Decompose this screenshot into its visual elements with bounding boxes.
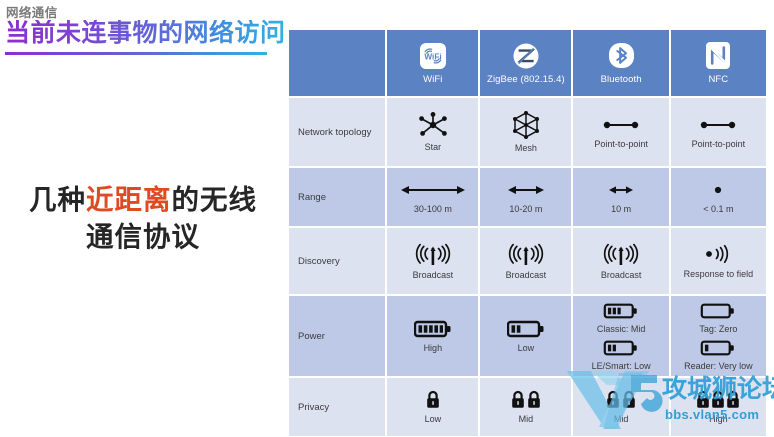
- zigbee-icon: [482, 41, 569, 71]
- broadcast-antenna-icon: [505, 241, 547, 267]
- cell-power-zigbee: Low: [480, 296, 571, 376]
- cell-caption: Response to field: [684, 269, 754, 280]
- dot-icon: [711, 179, 725, 201]
- cell-privacy-wifi: Low: [387, 378, 478, 436]
- cell-power-wifi: High: [387, 296, 478, 376]
- table-row: Discovery: [289, 228, 766, 294]
- table-body: Network topology: [289, 98, 766, 436]
- battery-full-icon: [414, 318, 452, 340]
- row-label-network-topology: Network topology: [289, 98, 385, 166]
- double-arrow-long-icon: [401, 179, 465, 201]
- cell-caption: Low: [425, 414, 442, 425]
- header-label-bluetooth: Bluetooth: [575, 74, 666, 85]
- battery-low-icon: [603, 337, 639, 359]
- table-row: Network topology: [289, 98, 766, 166]
- subtitle-line-2: 通信协议: [0, 219, 286, 256]
- lock-two-icon: [606, 389, 636, 411]
- star-topology-icon: [417, 111, 449, 139]
- cell-range-wifi: 30-100 m: [387, 168, 478, 226]
- battery-mid-icon: [603, 300, 639, 322]
- cell-discovery-wifi: Broadcast: [387, 228, 478, 294]
- point-to-point-icon: [600, 114, 642, 136]
- cell-topology-zigbee: Mesh: [480, 98, 571, 166]
- cell-discovery-bluetooth: Broadcast: [573, 228, 668, 294]
- battery-empty-icon: [700, 300, 736, 322]
- cell-privacy-zigbee: Mid: [480, 378, 571, 436]
- cell-caption: Broadcast: [506, 270, 547, 281]
- cell-caption: 10-20 m: [509, 204, 542, 215]
- table-row: Range 30-100 m: [289, 168, 766, 226]
- left-title-panel: 网络通信 当前未连事物的网络访问 几种近距离的无线 通信协议: [0, 0, 286, 437]
- cell-caption: Tag: Zero: [699, 324, 737, 335]
- header-cell-nfc: NFC: [671, 30, 766, 96]
- cell-range-bluetooth: 10 m: [573, 168, 668, 226]
- cell-discovery-zigbee: Broadcast: [480, 228, 571, 294]
- cell-caption: 10 m: [611, 204, 631, 215]
- point-to-point-icon: [697, 114, 739, 136]
- slide-canvas: 网络通信 当前未连事物的网络访问 几种近距离的无线 通信协议: [0, 0, 774, 437]
- double-arrow-short-icon: [609, 179, 633, 201]
- cell-caption: Mid: [614, 414, 629, 425]
- cell-discovery-nfc: Response to field: [671, 228, 766, 294]
- cell-caption: < 0.1 m: [703, 204, 733, 215]
- table-header-row: WiFi WiFi ZigBee (: [289, 30, 766, 96]
- svg-text:WiFi: WiFi: [424, 52, 441, 61]
- lock-one-icon: [425, 389, 441, 411]
- broadcast-antenna-icon: [600, 241, 642, 267]
- mesh-topology-icon: [511, 110, 541, 140]
- nfc-icon: [673, 41, 764, 71]
- cell-caption: Broadcast: [413, 270, 454, 281]
- row-label-discovery: Discovery: [289, 228, 385, 294]
- header-label-nfc: NFC: [673, 74, 764, 85]
- cell-power-nfc: Tag: Zero Reader: V: [671, 296, 766, 376]
- header-cell-bluetooth: Bluetooth: [573, 30, 668, 96]
- double-arrow-mid-icon: [508, 179, 544, 201]
- cell-caption: Classic: Mid: [597, 324, 646, 335]
- bluetooth-icon: [575, 41, 666, 71]
- page-title: 当前未连事物的网络访问: [5, 20, 286, 47]
- header-cell-wifi: WiFi WiFi: [387, 30, 478, 96]
- header-cell-empty: [289, 30, 385, 96]
- cell-topology-bluetooth: Point-to-point: [573, 98, 668, 166]
- table-header: WiFi WiFi ZigBee (: [289, 30, 766, 96]
- lock-three-icon: [696, 389, 740, 411]
- broadcast-antenna-icon: [412, 241, 454, 267]
- row-label-privacy: Privacy: [289, 378, 385, 436]
- cell-caption: Broadcast: [601, 270, 642, 281]
- slide-subtitle: 几种近距离的无线 通信协议: [0, 182, 286, 255]
- battery-low-icon: [507, 318, 545, 340]
- cell-caption: Low: [518, 343, 535, 354]
- row-label-range: Range: [289, 168, 385, 226]
- header-label-zigbee: ZigBee (802.15.4): [482, 74, 569, 85]
- table-row: Privacy Low: [289, 378, 766, 436]
- cell-range-zigbee: 10-20 m: [480, 168, 571, 226]
- subtitle-highlight: 近距离: [86, 184, 172, 215]
- cell-range-nfc: < 0.1 m: [671, 168, 766, 226]
- lock-two-icon: [511, 389, 541, 411]
- cell-caption: Point-to-point: [594, 139, 648, 150]
- cell-privacy-bluetooth: Mid: [573, 378, 668, 436]
- table-row: Power High: [289, 296, 766, 376]
- cell-caption: 30-100 m: [414, 204, 452, 215]
- cell-topology-nfc: Point-to-point: [671, 98, 766, 166]
- cell-caption: High: [424, 343, 443, 354]
- cell-caption: Point-to-point: [692, 139, 746, 150]
- cell-power-bluetooth: Classic: Mid LE/Sma: [573, 296, 668, 376]
- cell-caption-secondary: Reader: Very low: [684, 361, 753, 372]
- cell-topology-wifi: Star: [387, 98, 478, 166]
- wireless-protocol-comparison-table: WiFi WiFi ZigBee (: [287, 28, 768, 437]
- cell-caption: Star: [425, 142, 442, 153]
- comparison-table-container: WiFi WiFi ZigBee (: [287, 28, 768, 427]
- header-label-wifi: WiFi: [389, 74, 476, 85]
- header-cell-zigbee: ZigBee (802.15.4): [480, 30, 571, 96]
- cell-caption: High: [709, 414, 728, 425]
- title-underline-divider: [5, 52, 267, 55]
- cell-caption: Mesh: [515, 143, 537, 154]
- subtitle-text-b: 的无线: [172, 184, 258, 215]
- wifi-icon: WiFi: [389, 41, 476, 71]
- field-response-icon: [701, 242, 735, 266]
- cell-caption-secondary: LE/Smart: Low: [592, 361, 651, 372]
- battery-verylow-icon: [700, 337, 736, 359]
- subtitle-text-a: 几种: [29, 184, 86, 215]
- subtitle-line-1: 几种近距离的无线: [0, 182, 286, 219]
- cell-privacy-nfc: High: [671, 378, 766, 436]
- cell-caption: Mid: [519, 414, 534, 425]
- row-label-power: Power: [289, 296, 385, 376]
